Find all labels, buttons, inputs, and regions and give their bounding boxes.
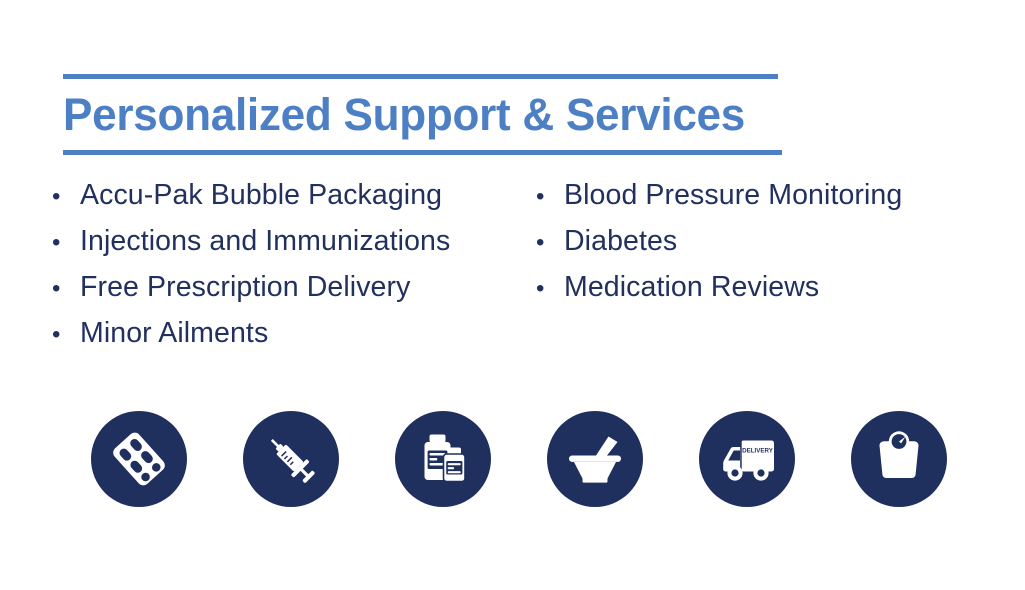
list-item: • Free Prescription Delivery [52, 270, 450, 316]
list-item-label: Blood Pressure Monitoring [550, 178, 902, 212]
bullet-icon: • [52, 320, 66, 350]
icon-badge-pill-bottles [395, 411, 491, 507]
list-item-label: Diabetes [550, 224, 677, 258]
bullet-icon: • [536, 274, 550, 304]
icon-badge-mortar-pestle [547, 411, 643, 507]
bullet-icon: • [52, 182, 66, 212]
slide-canvas: Personalized Support & Services • Accu-P… [0, 0, 1025, 590]
services-column-left: • Accu-Pak Bubble Packaging • Injections… [52, 178, 450, 362]
list-item: • Accu-Pak Bubble Packaging [52, 178, 450, 224]
list-item: • Injections and Immunizations [52, 224, 450, 270]
list-item: • Medication Reviews [536, 270, 902, 316]
list-item: • Minor Ailments [52, 316, 450, 362]
mortar-pestle-icon [563, 427, 627, 491]
icon-badge-weight-scale [851, 411, 947, 507]
van-label: DELIVERY [742, 448, 774, 455]
blister-pack-icon [108, 428, 170, 490]
icon-badge-blister-pack [91, 411, 187, 507]
pill-bottles-icon [412, 428, 474, 490]
bullet-icon: • [536, 182, 550, 212]
page-title: Personalized Support & Services [63, 79, 768, 150]
icon-badge-delivery-van: DELIVERY [699, 411, 795, 507]
icon-badge-syringe [243, 411, 339, 507]
heading-rule-bottom [63, 150, 782, 155]
list-item-label: Accu-Pak Bubble Packaging [66, 178, 442, 212]
bullet-icon: • [52, 228, 66, 258]
services-lists: • Accu-Pak Bubble Packaging • Injections… [0, 178, 1025, 368]
services-column-right: • Blood Pressure Monitoring • Diabetes •… [536, 178, 902, 316]
list-item: • Diabetes [536, 224, 902, 270]
list-item-label: Injections and Immunizations [66, 224, 450, 258]
weight-scale-icon [868, 428, 930, 490]
list-item-label: Medication Reviews [550, 270, 819, 304]
list-item: • Blood Pressure Monitoring [536, 178, 902, 224]
heading-block: Personalized Support & Services [63, 74, 782, 155]
list-item-label: Minor Ailments [66, 316, 268, 350]
delivery-van-icon: DELIVERY [713, 425, 781, 493]
service-icon-row: DELIVERY [91, 411, 947, 507]
bullet-icon: • [536, 228, 550, 258]
syringe-icon [260, 428, 322, 490]
bullet-icon: • [52, 274, 66, 304]
list-item-label: Free Prescription Delivery [66, 270, 410, 304]
